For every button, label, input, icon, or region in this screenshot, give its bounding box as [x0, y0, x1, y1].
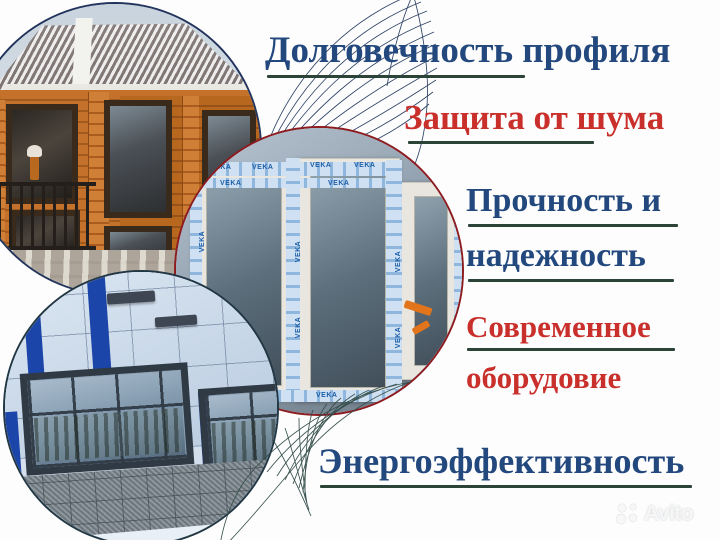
- veka-brand-label: VEKA: [395, 251, 402, 272]
- headline-modern: Современное: [466, 311, 675, 351]
- headline-strength: Прочность и: [466, 184, 678, 227]
- avito-dots-logo-icon: [616, 503, 640, 525]
- veka-brand-label: VEKA: [252, 164, 273, 171]
- headline-underline: [468, 279, 674, 282]
- veka-brand-label: VEKA: [310, 162, 331, 169]
- photo-circle-building-facade: [5, 272, 277, 540]
- headline-underline: [468, 224, 678, 227]
- headline-energy-efficiency-text: Энергоэффективность: [318, 441, 684, 481]
- headline-underline: [320, 485, 692, 488]
- headline-reliability-text: надежность: [466, 237, 646, 274]
- headline-noise-protection: Защита от шума: [404, 100, 664, 144]
- headline-underline: [467, 348, 675, 351]
- headline-noise-protection-text: Защита от шума: [404, 98, 664, 137]
- headline-equipment-text: оборудовие: [466, 360, 621, 395]
- headline-durability-text: Долговечность профиля: [265, 30, 670, 71]
- headline-strength-text: Прочность и: [466, 182, 661, 219]
- headline-underline: [408, 141, 594, 144]
- veka-brand-label: VEKA: [220, 180, 241, 187]
- headline-equipment: оборудовие: [466, 362, 621, 393]
- veka-brand-label: VEKA: [354, 162, 375, 169]
- avito-watermark-text: Avito: [644, 502, 693, 526]
- headline-underline: [267, 75, 525, 78]
- headline-durability: Долговечность профиля: [265, 32, 670, 78]
- headline-reliability: надежность: [466, 239, 674, 282]
- headline-modern-text: Современное: [466, 309, 651, 344]
- veka-brand-label: VEKA: [199, 231, 206, 252]
- veka-brand-label: VEKA: [395, 327, 402, 348]
- veka-brand-label: VEKA: [316, 392, 337, 399]
- veka-brand-label: VEKA: [295, 241, 302, 262]
- veka-brand-label: VEKA: [210, 164, 231, 171]
- veka-brand-label: VEKA: [328, 180, 349, 187]
- poster-canvas: VEKA VEKA VEKA VEKA VEKA VEKA VEKA VEKA …: [0, 0, 720, 540]
- avito-watermark: Avito: [616, 500, 712, 528]
- headline-energy-efficiency: Энергоэффективность: [318, 443, 692, 488]
- veka-brand-label: VEKA: [295, 317, 302, 338]
